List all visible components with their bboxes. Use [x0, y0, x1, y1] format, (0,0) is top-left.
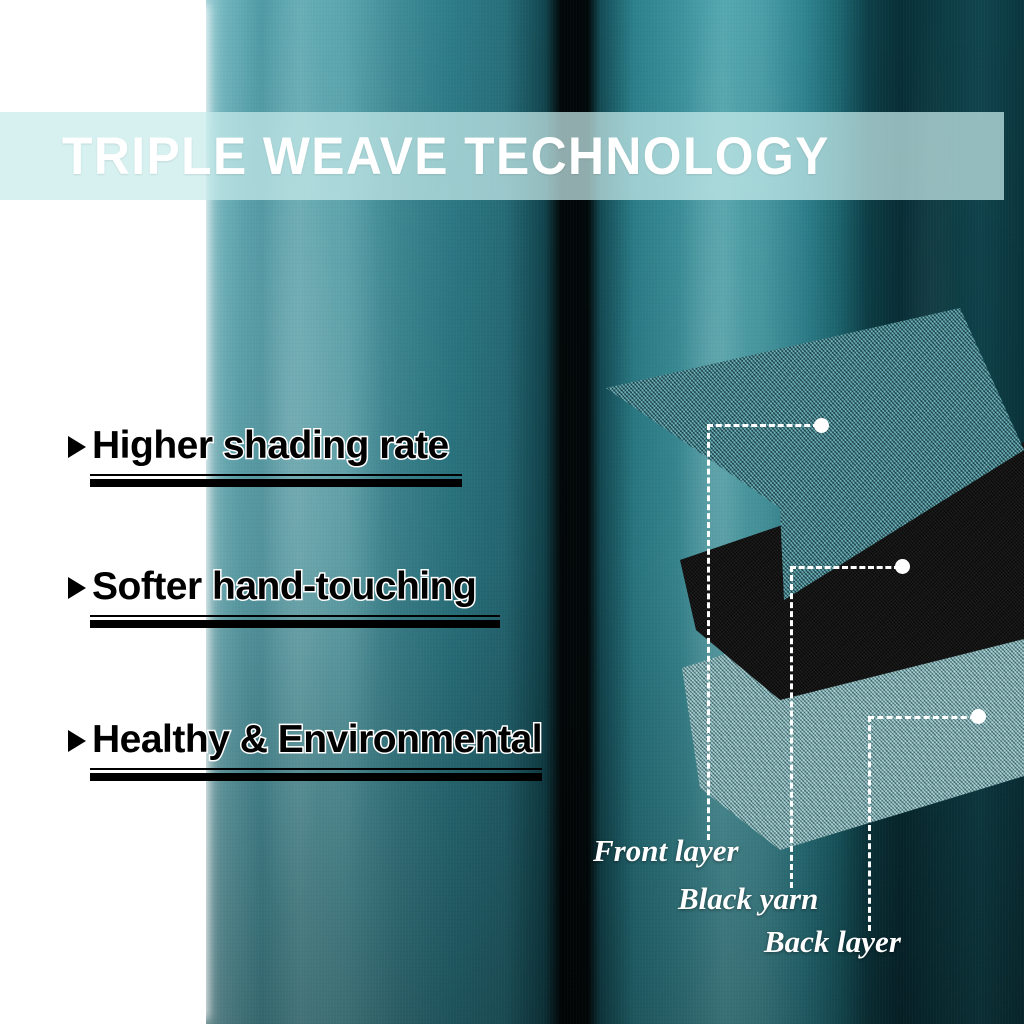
feature-underline [90, 768, 542, 781]
feature-label: Higher shading rate [92, 424, 449, 468]
feature-underline [90, 615, 500, 628]
feature-label: Softer hand-touching [92, 565, 476, 609]
feature-underline [90, 474, 462, 487]
product-infographic: Front layer Black yarn Back layer TRIPLE… [0, 0, 1024, 1024]
triangle-right-icon [68, 436, 86, 458]
feature-item-higher-shading-rate: Higher shading rate [68, 424, 462, 487]
triangle-right-icon [68, 577, 86, 599]
underline-thick [90, 620, 500, 628]
underline-thick [90, 479, 462, 487]
triangle-right-icon [68, 730, 86, 752]
feature-item-softer-hand-touching: Softer hand-touching [68, 565, 500, 628]
feature-label: Healthy & Environmental [92, 718, 542, 762]
feature-list: Higher shading rate Softer hand-touching [0, 0, 1024, 1024]
feature-item-healthy-environmental: Healthy & Environmental [68, 718, 542, 781]
underline-thick [90, 773, 542, 781]
